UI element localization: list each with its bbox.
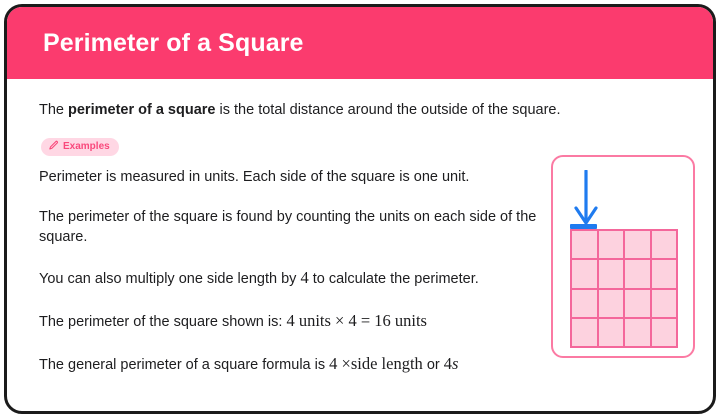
card-body: The perimeter of a square is the total d…: [7, 79, 713, 414]
grid-cell: [652, 290, 679, 319]
grid-cell: [572, 231, 599, 260]
status-badge[interactable]: Examples: [41, 138, 119, 156]
grid-cell: [572, 260, 599, 289]
grid-cell: [652, 260, 679, 289]
paragraph-multiply: You can also multiply one side length by…: [39, 267, 551, 290]
paragraph-counting: The perimeter of the square is found by …: [39, 207, 551, 247]
grid-cell: [652, 319, 679, 348]
math-formula-variable: s: [452, 354, 458, 373]
square-grid-diagram: [551, 155, 695, 358]
paragraph-formula-before: The general perimeter of a square formul…: [39, 357, 329, 373]
unit-square-grid: [570, 229, 678, 348]
grid-cell: [599, 260, 626, 289]
paragraph-formula: The general perimeter of a square formul…: [39, 353, 551, 376]
paragraph-formula-or: or: [427, 357, 440, 373]
down-arrow-icon: [573, 170, 599, 228]
lead-paragraph: The perimeter of a square is the total d…: [39, 101, 639, 121]
math-four: 4: [300, 268, 308, 287]
grid-cell: [599, 290, 626, 319]
paragraph-worked-example: The perimeter of the square shown is: 4 …: [39, 310, 551, 333]
math-formula-short: 4: [444, 354, 452, 373]
paragraph-units: Perimeter is measured in units. Each sid…: [39, 167, 551, 187]
paragraph-worked-before: The perimeter of the square shown is:: [39, 314, 286, 330]
card-header: Perimeter of a Square: [7, 7, 713, 79]
paragraph-multiply-before: You can also multiply one side length by: [39, 271, 300, 287]
grid-cell: [572, 319, 599, 348]
math-formula-multiplier: 4 ×: [329, 354, 351, 373]
math-formula-sidelength: side length: [351, 354, 423, 373]
explanation-text: Perimeter is measured in units. Each sid…: [39, 167, 551, 375]
grid-cell: [625, 260, 652, 289]
lead-text-after: is the total distance around the outside…: [216, 102, 561, 118]
grid-cell: [599, 319, 626, 348]
grid-cell: [572, 290, 599, 319]
lead-text-bold: perimeter of a square: [68, 102, 215, 118]
grid-cell: [625, 231, 652, 260]
grid-cell: [599, 231, 626, 260]
lead-text-before: The: [39, 102, 68, 118]
lesson-card: Perimeter of a Square The perimeter of a…: [4, 4, 716, 414]
page-title: Perimeter of a Square: [43, 31, 304, 56]
status-badge-label: Examples: [63, 142, 110, 152]
grid-cell: [625, 290, 652, 319]
math-perimeter-calculation: 4 units × 4 = 16 units: [286, 311, 427, 330]
grid-cell: [625, 319, 652, 348]
paragraph-multiply-after: to calculate the perimeter.: [309, 271, 479, 287]
grid-cell: [652, 231, 679, 260]
pencil-icon: [48, 138, 59, 156]
